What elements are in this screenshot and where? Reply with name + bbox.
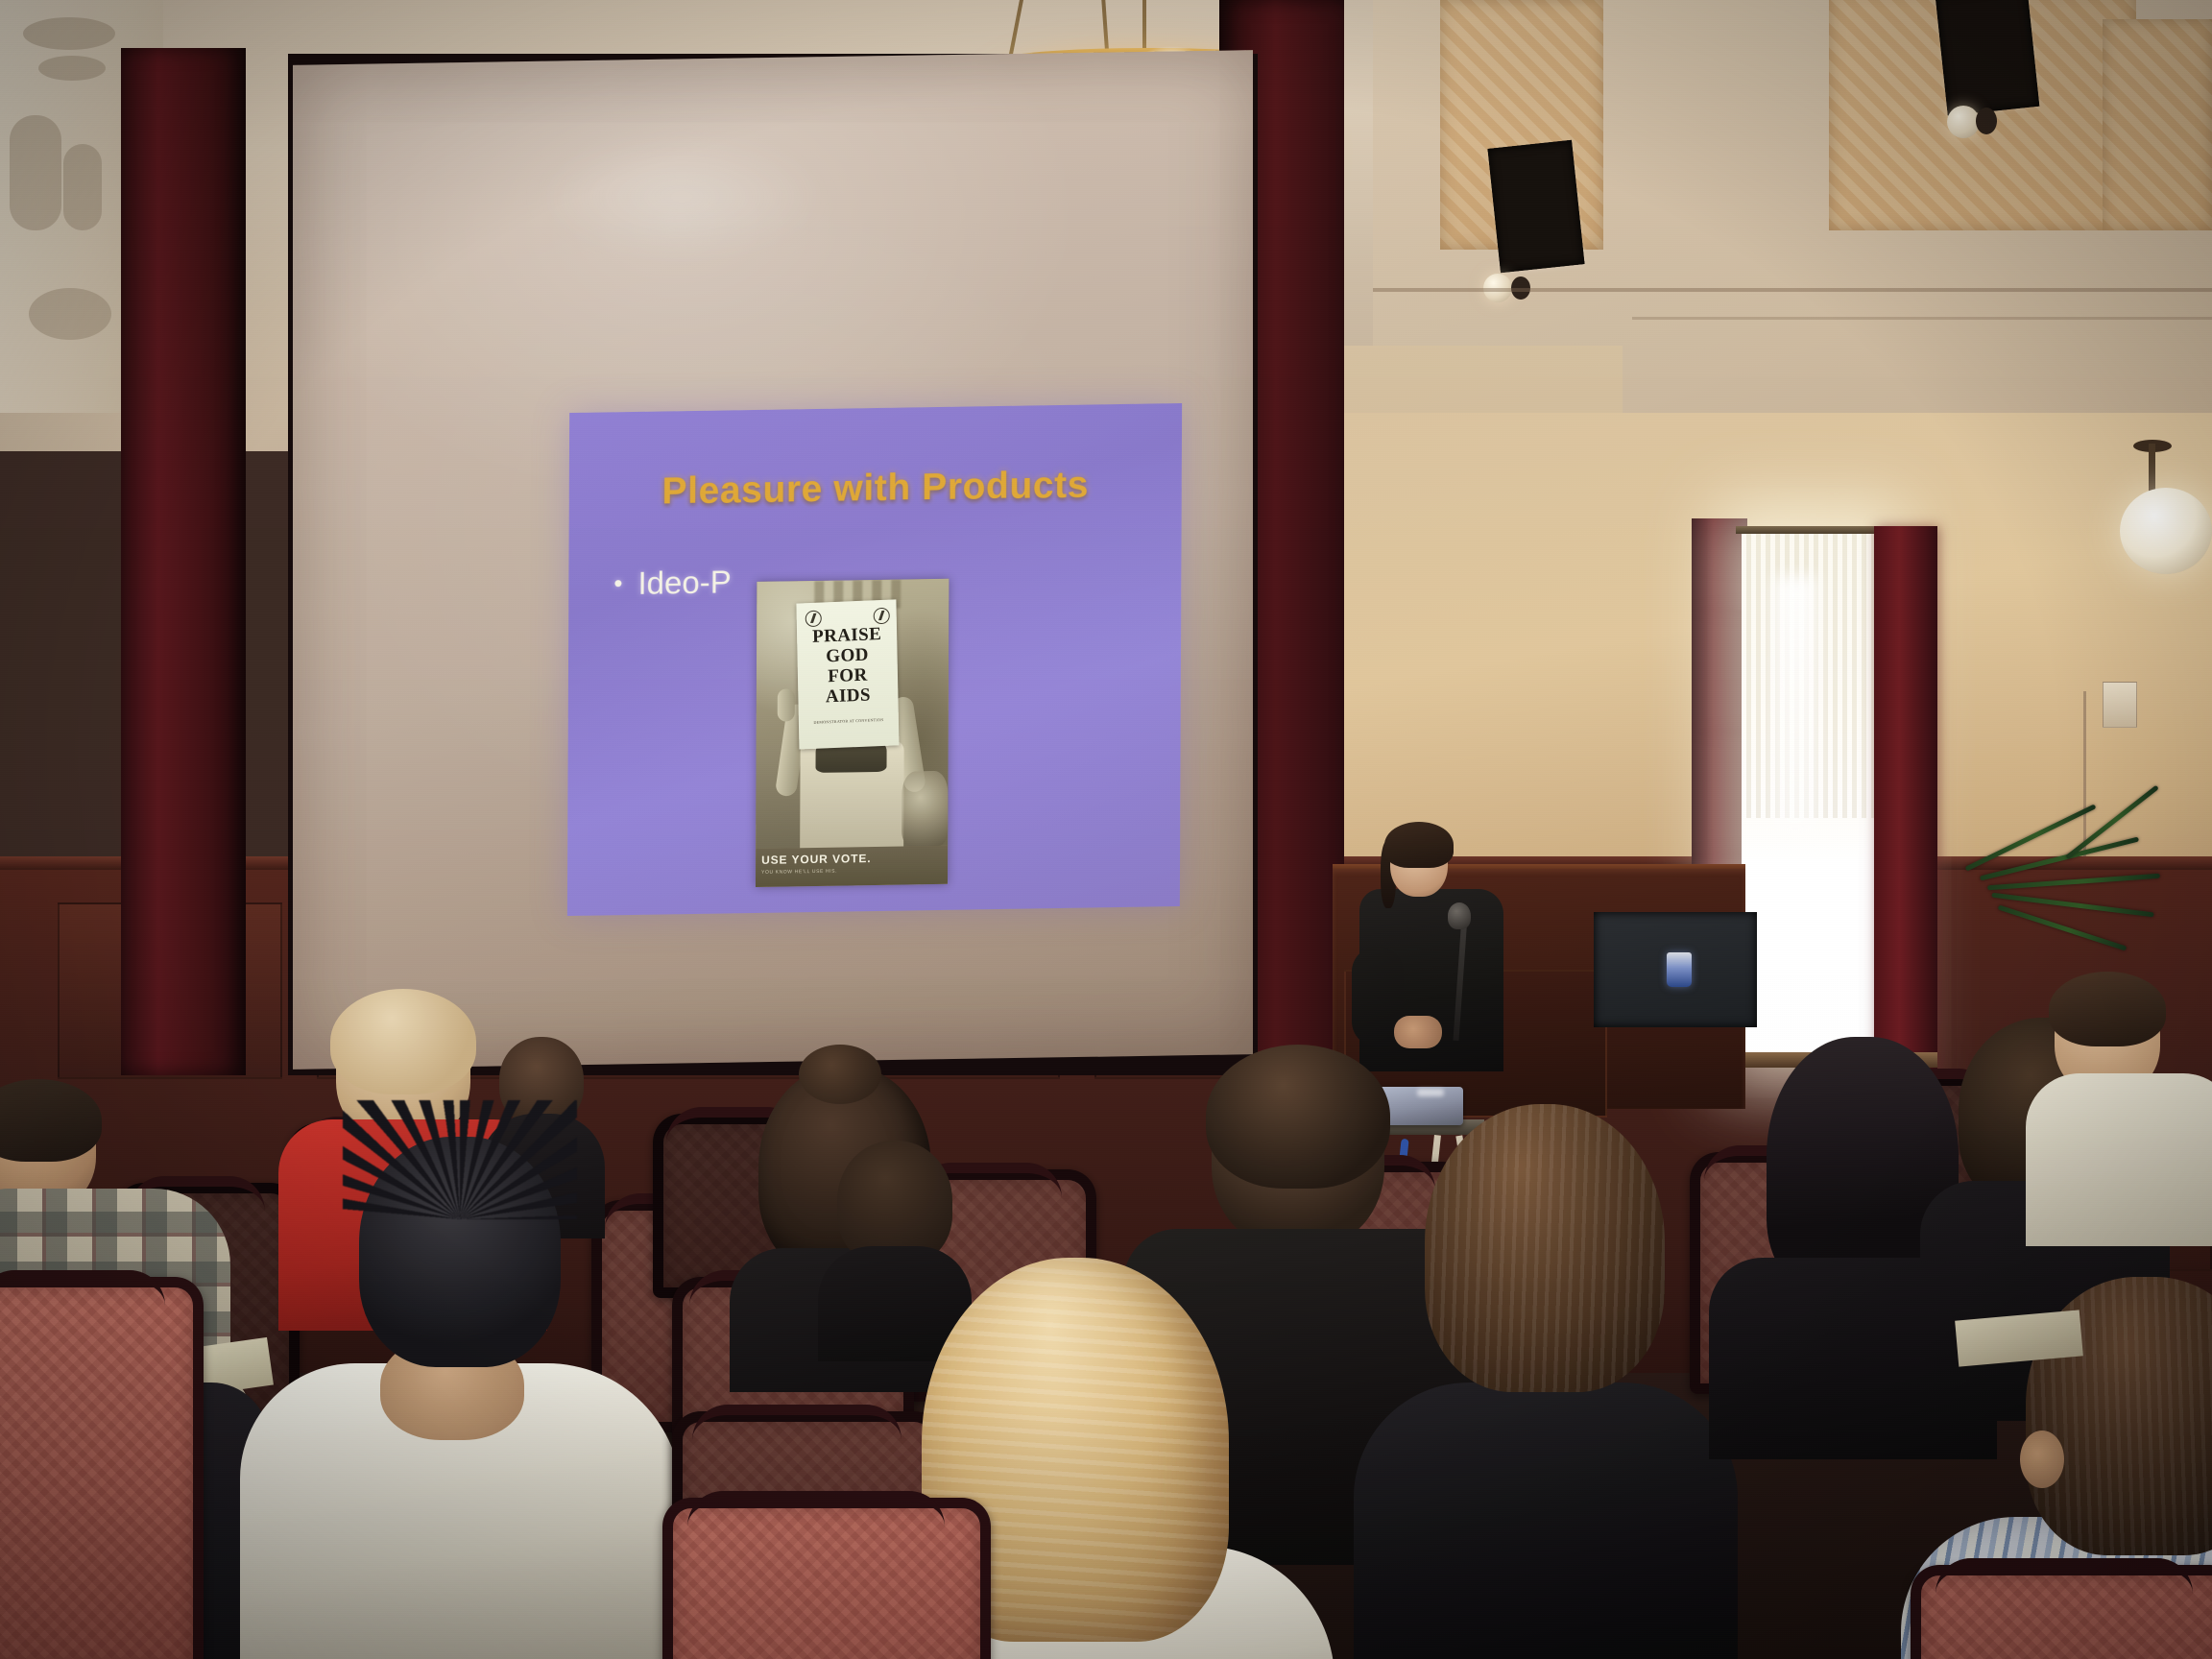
bullet-marker-icon: • (613, 568, 622, 598)
poster-photograph: PRAISE GOD FOR AIDS DEMONSTRATOR AT CONV… (756, 579, 949, 849)
sign-logo-right-icon (874, 608, 890, 625)
presenter-hand (1394, 1016, 1442, 1048)
slide-bullet-item: •Ideo-P (613, 564, 732, 602)
blond-hair (330, 989, 476, 1094)
chair-foreground-left (0, 1277, 182, 1659)
sign-logo-left-icon (805, 611, 822, 628)
microphone-icon (1448, 902, 1471, 929)
dark-buzz-hair (1206, 1045, 1390, 1189)
stage-curtain-left (121, 48, 246, 1075)
poster-caption-sub: YOU KNOW HE'LL USE HIS. (761, 869, 837, 876)
slide-title: Pleasure with Products (569, 463, 1182, 515)
poster-caption-main: USE YOUR VOTE. (761, 852, 871, 867)
ceiling-coffer-line-2 (1632, 317, 2212, 320)
sign-text-block: PRAISE GOD FOR AIDS (797, 623, 899, 708)
deco-panel-far-right (2103, 19, 2212, 230)
ball-sconce-right-shadow (1976, 108, 1997, 134)
projected-slide: Pleasure with Products •Ideo-P PRAISE (567, 403, 1182, 916)
striped-shirt-ear (2020, 1431, 2064, 1488)
bullet-text: Ideo-P (637, 564, 731, 601)
slide-poster-image: PRAISE GOD FOR AIDS DEMONSTRATOR AT CONV… (756, 579, 949, 887)
bowl-cut-hair (1425, 1104, 1665, 1392)
window-drape-right (1874, 526, 1937, 1073)
globe-pendant-stem (2149, 444, 2155, 493)
protest-sign: PRAISE GOD FOR AIDS DEMONSTRATOR AT CONV… (796, 599, 899, 749)
ball-sconce-right (1947, 106, 1980, 138)
sign-line-4: AIDS (798, 684, 898, 708)
curtain-rod (1736, 526, 1886, 534)
protester-hand-left (778, 688, 795, 721)
blue-cup (1667, 952, 1692, 987)
deco-recess-left (1487, 140, 1584, 273)
chair-foreground-center (662, 1498, 970, 1659)
poster-caption-bar: USE YOUR VOTE. YOU KNOW HE'LL USE HIS. (756, 846, 948, 887)
white-shirt-shoulders (2026, 1073, 2212, 1246)
globe-pendant-light (2120, 488, 2212, 574)
photograph-conference-room: Pleasure with Products •Ideo-P PRAISE (0, 0, 2212, 1659)
spiky-black-hair (359, 1137, 561, 1367)
ceiling-coffer-line (1373, 288, 2212, 292)
person-brown-bowl-cut (1382, 1104, 1699, 1659)
person-spiky-black-hair (259, 1123, 662, 1659)
deco-recess-right (1935, 0, 2040, 116)
plaid-hair (0, 1079, 102, 1162)
bowl-cut-hoodie (1354, 1382, 1738, 1659)
chair-foreground-right (1911, 1565, 2212, 1659)
sign-fine-print: DEMONSTRATOR AT CONVENTION (799, 716, 899, 725)
curly-bun (799, 1045, 881, 1104)
background-crowd-blur (902, 771, 948, 847)
window-highlight (1774, 576, 1816, 835)
presenter-hair (1384, 822, 1454, 868)
wall-vent (2103, 682, 2137, 728)
person-white-shirt-back (2035, 979, 2212, 1238)
screen-glare (538, 134, 826, 259)
white-shirt-hair (2049, 972, 2166, 1046)
